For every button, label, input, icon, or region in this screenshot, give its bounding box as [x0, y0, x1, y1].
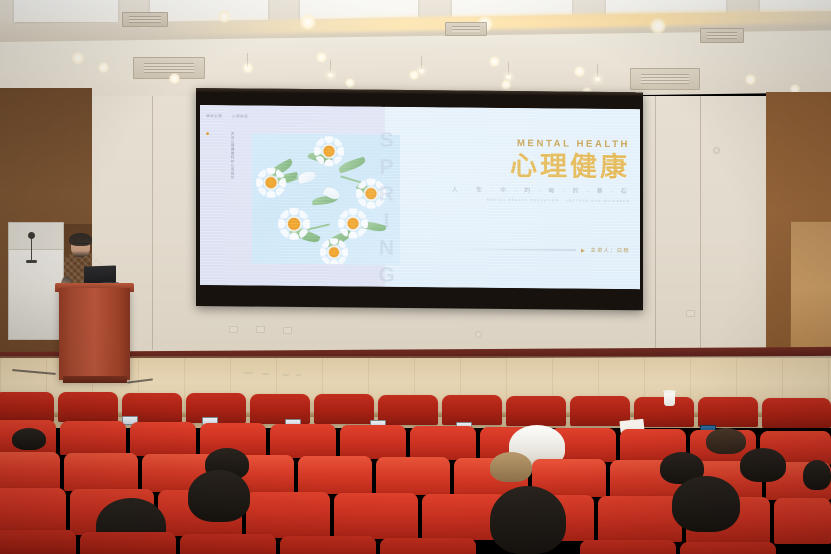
seat[interactable] — [506, 396, 566, 426]
recessed-downlight — [501, 80, 511, 90]
presenter-laptop[interactable] — [84, 265, 116, 283]
seat[interactable] — [64, 453, 138, 491]
pendant-light — [508, 62, 509, 76]
daisy-flower — [320, 238, 348, 265]
bud-flower — [297, 170, 317, 184]
slide-kicker-right: 心理讲座 — [232, 114, 248, 118]
seat[interactable] — [410, 426, 476, 460]
recessed-downlight — [169, 73, 180, 84]
wall-outlet[interactable] — [475, 331, 482, 338]
seat[interactable] — [314, 394, 374, 424]
wall-seam — [700, 96, 701, 350]
wall-outlet[interactable] — [283, 327, 292, 334]
pendant-light — [330, 60, 331, 74]
recessed-downlight — [72, 52, 84, 64]
recessed-downlight — [345, 78, 355, 88]
recessed-downlight — [316, 52, 327, 63]
wall-sensor — [713, 147, 720, 154]
audience-head — [490, 452, 532, 482]
slide-title-cn: 心理健康 — [422, 151, 630, 181]
projection-screen: 演讲主题 心理讲座 关注心理健康呵护心灵成长 — [200, 105, 640, 289]
glasses-icon — [73, 243, 88, 246]
slide-title-block: MENTAL HEALTH 心理健康 人 · 生 · 中 · 的 · 每 · 的… — [422, 137, 630, 203]
slide-kicker-left: 演讲主题 — [206, 114, 222, 118]
seat[interactable] — [60, 421, 126, 455]
microphone-stand — [31, 236, 32, 262]
audience-head — [706, 428, 746, 454]
daisy-flower — [314, 136, 344, 166]
floor-marking — [283, 374, 289, 376]
auditorium-scene: 演讲主题 心理讲座 关注心理健康呵护心灵成长 — [0, 0, 831, 554]
divider-rule — [450, 248, 576, 250]
recessed-downlight — [489, 56, 500, 67]
seat[interactable] — [58, 392, 118, 422]
slide-watermark: SPRING — [374, 129, 398, 290]
seat[interactable] — [250, 394, 310, 424]
seat[interactable] — [270, 424, 336, 458]
wall-outlet[interactable] — [686, 310, 695, 317]
paper-cup[interactable] — [664, 392, 675, 406]
lectern-podium — [59, 288, 130, 380]
daisy-core — [329, 247, 339, 257]
seat[interactable] — [334, 493, 418, 539]
stage-side-cabinet — [8, 222, 64, 340]
seat[interactable] — [442, 395, 502, 425]
floor-marking — [296, 374, 301, 376]
wall-outlet[interactable] — [229, 326, 238, 333]
daisy-flower — [338, 208, 368, 238]
ceiling-air-vent — [445, 22, 487, 36]
wall-seam — [152, 96, 153, 350]
recessed-downlight — [574, 66, 585, 77]
skylight-panel — [14, 0, 118, 22]
seat[interactable] — [380, 538, 476, 554]
floor-marking — [262, 373, 269, 375]
podium-base — [63, 376, 127, 383]
seat[interactable] — [378, 395, 438, 425]
audience-head — [672, 476, 740, 532]
slide-title-en: MENTAL HEALTH — [422, 137, 630, 150]
slide-kicker: 演讲主题 心理讲座 — [206, 114, 256, 119]
audience-head — [12, 428, 46, 450]
pendant-light — [597, 64, 598, 78]
presentation-slide: 演讲主题 心理讲座 关注心理健康呵护心灵成长 — [200, 105, 640, 289]
ceiling-air-vent — [630, 68, 700, 90]
audience-head — [740, 448, 786, 482]
seat[interactable] — [0, 530, 76, 554]
seat[interactable] — [698, 397, 758, 427]
floor-marking — [244, 372, 253, 374]
seat[interactable] — [0, 452, 60, 490]
daisy-flower — [256, 168, 286, 198]
recessed-downlight — [650, 18, 666, 34]
recessed-downlight — [409, 70, 419, 80]
ceiling-air-vent — [700, 28, 744, 43]
seat[interactable] — [80, 532, 176, 554]
slide-presenter-label: 主讲人：白杨 — [590, 247, 630, 254]
recessed-downlight — [218, 10, 231, 23]
recessed-downlight — [300, 14, 316, 30]
seat[interactable] — [376, 457, 450, 495]
audience-head — [490, 486, 566, 554]
daisy-core — [288, 218, 300, 230]
arrow-icon — [581, 248, 585, 252]
seat[interactable] — [130, 422, 196, 456]
wall-seam — [655, 96, 656, 350]
recessed-downlight — [745, 74, 756, 85]
wall-outlet[interactable] — [256, 326, 265, 333]
audience-head — [803, 460, 831, 490]
seat[interactable] — [580, 540, 676, 554]
seat[interactable] — [180, 534, 276, 554]
pendant-light — [421, 56, 422, 70]
seat[interactable] — [598, 496, 682, 542]
seat[interactable] — [762, 398, 831, 428]
recessed-downlight — [98, 62, 109, 73]
seat[interactable] — [340, 425, 406, 459]
seat[interactable] — [298, 456, 372, 494]
seat[interactable] — [280, 536, 376, 554]
slide-subtitle-cn: 人 · 生 · 中 · 的 · 每 · 的 · 基 · 石 — [422, 184, 630, 195]
audience-head — [188, 470, 250, 522]
daisy-core — [266, 177, 277, 188]
daisy-core — [348, 218, 359, 229]
ceiling-air-vent — [122, 12, 168, 27]
seat[interactable] — [774, 498, 831, 544]
seat[interactable] — [0, 392, 54, 422]
side-door[interactable] — [790, 221, 831, 354]
seat[interactable] — [246, 492, 330, 538]
seat[interactable] — [0, 488, 66, 534]
daisy-core — [324, 146, 335, 157]
pendant-light — [247, 53, 248, 67]
daisy-flower — [278, 208, 310, 240]
seat[interactable] — [680, 542, 776, 554]
slide-vertical-note: 关注心理健康呵护心灵成长 — [209, 131, 235, 183]
